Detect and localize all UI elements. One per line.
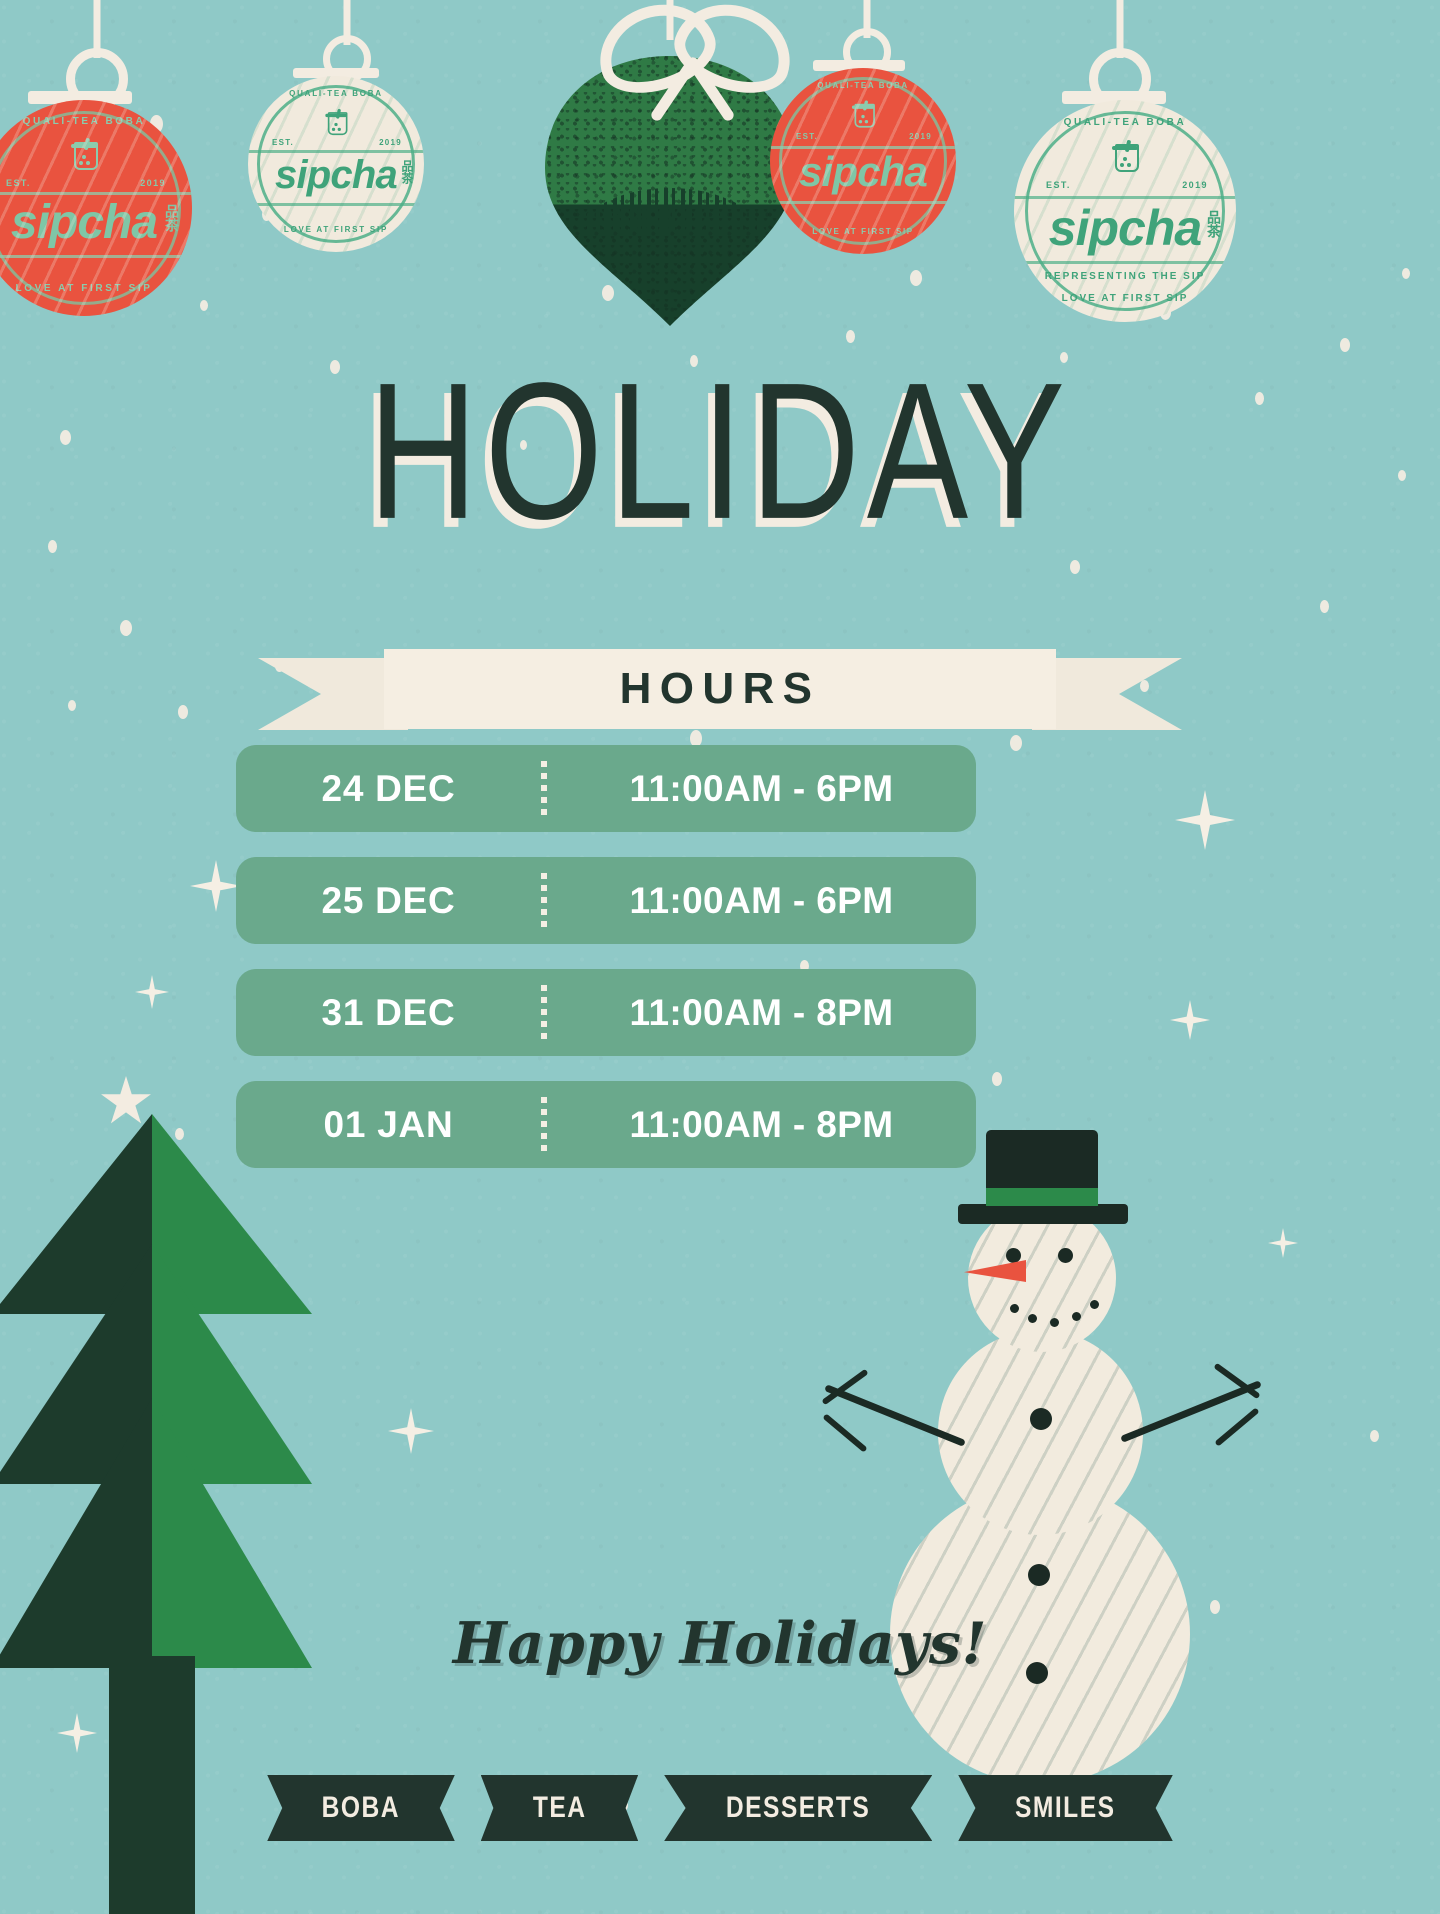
tag-label: DESSERTS <box>726 1791 870 1825</box>
ornament-2: QUALI-TEA BOBA EST. 2019 sipcha 品茶 LOVE … <box>246 0 426 270</box>
snowman-eye-right <box>1058 1248 1073 1263</box>
snowman-twig-right-b <box>1214 1407 1259 1446</box>
ornament-1: QUALI-TEA BOBA EST. 2019 sipcha 品茶 LOVE … <box>0 0 194 348</box>
tag-label: BOBA <box>322 1791 400 1825</box>
ornament-texture <box>248 76 424 252</box>
ornament-ball: QUALI-TEA BOBA EST. 2019 sipcha 品茶 REPRE… <box>1014 100 1236 322</box>
tag-boba[interactable]: BOBA <box>267 1775 455 1841</box>
ornament-4: QUALI-TEA BOBA EST. 2019 sipcha 品茶 REPRE… <box>1010 0 1240 346</box>
snowman-smile-dot <box>1090 1300 1099 1309</box>
hours-row-date: 25 DEC <box>236 880 541 922</box>
holiday-hours-poster: QUALI-TEA BOBA EST. 2019 sipcha 品茶 LOVE … <box>0 0 1440 1914</box>
tag-desserts[interactable]: DESSERTS <box>664 1775 932 1841</box>
hours-row-time: 11:00AM - 6PM <box>547 880 976 922</box>
ornament-3: QUALI-TEA BOBA EST. 2019 sipcha LOVE AT … <box>768 0 958 278</box>
hours-row-time: 11:00AM - 6PM <box>547 768 976 810</box>
ribbon-bow-icon <box>597 6 777 126</box>
ornament-texture <box>770 68 956 254</box>
snowman-smile-dot <box>1028 1314 1037 1323</box>
hours-row-time: 11:00AM - 8PM <box>547 1104 976 1146</box>
page-title: HOLIDAY <box>0 340 1440 564</box>
hours-row-time: 11:00AM - 8PM <box>547 992 976 1034</box>
snowman-arm-right <box>1120 1380 1262 1443</box>
tag-tea[interactable]: TEA <box>481 1775 638 1841</box>
hours-ribbon-banner: HOURS <box>258 649 1182 729</box>
hours-row-date: 01 JAN <box>236 1104 541 1146</box>
category-tags: BOBA TEA DESSERTS SMILES <box>0 1775 1440 1841</box>
snowman-eye-left <box>1006 1248 1021 1263</box>
ornament-ball: QUALI-TEA BOBA EST. 2019 sipcha LOVE AT … <box>770 68 956 254</box>
tag-label: SMILES <box>1015 1791 1115 1825</box>
ribbon-label: HOURS <box>258 649 1182 729</box>
greeting-text: Happy Holidays! <box>0 1610 1440 1677</box>
ornament-texture <box>0 100 192 316</box>
ornament-ball: QUALI-TEA BOBA EST. 2019 sipcha 品茶 LOVE … <box>0 100 192 316</box>
snowman-button <box>1028 1564 1050 1586</box>
hours-row: 31 DEC 11:00AM - 8PM <box>236 969 976 1056</box>
snowman-smile-dot <box>1072 1312 1081 1321</box>
center-teardrop-ornament <box>545 0 795 370</box>
hours-list: 24 DEC 11:00AM - 6PM 25 DEC 11:00AM - 6P… <box>236 745 976 1193</box>
ornament-ball: QUALI-TEA BOBA EST. 2019 sipcha 品茶 LOVE … <box>248 76 424 252</box>
hours-row-date: 31 DEC <box>236 992 541 1034</box>
snowman-twig-left-b <box>822 1413 867 1452</box>
ornament-texture <box>1014 100 1236 322</box>
tag-smiles[interactable]: SMILES <box>958 1775 1172 1841</box>
snowman-smile-dot <box>1050 1318 1059 1327</box>
hours-row: 24 DEC 11:00AM - 6PM <box>236 745 976 832</box>
snowman-smile-dot <box>1010 1304 1019 1313</box>
tag-label: TEA <box>533 1791 587 1825</box>
hours-row: 25 DEC 11:00AM - 6PM <box>236 857 976 944</box>
snowman-head <box>968 1204 1116 1352</box>
snowman-button <box>1030 1408 1052 1430</box>
hours-row: 01 JAN 11:00AM - 8PM <box>236 1081 976 1168</box>
snowman-hat-band <box>986 1188 1098 1206</box>
hours-row-date: 24 DEC <box>236 768 541 810</box>
snowman-body-middle <box>938 1330 1143 1535</box>
